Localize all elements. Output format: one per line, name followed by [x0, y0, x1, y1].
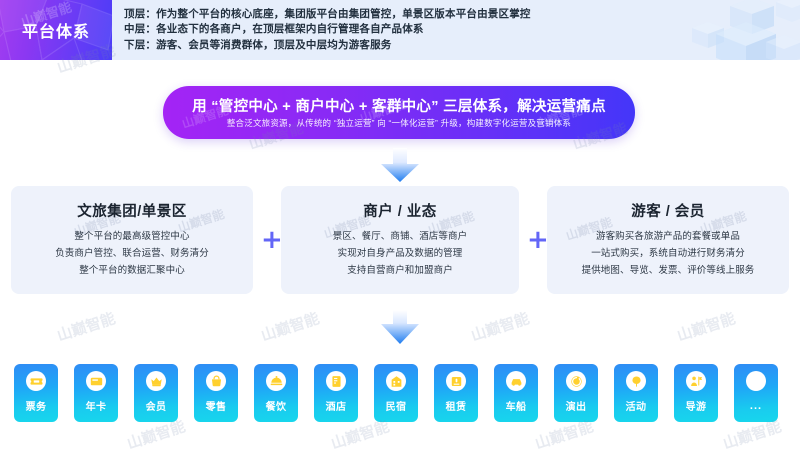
tile-label-more: ... — [734, 400, 778, 412]
card1-line-3: 整个平台的数据汇聚中心 — [11, 262, 253, 279]
header-description-list: 顶层：作为整个平台的核心底座，集团版平台由集团管控，单景区版本平台由景区掌控 中… — [124, 7, 764, 53]
guide-flag-icon — [686, 371, 706, 391]
tile-membership[interactable]: 会员 — [134, 364, 178, 422]
tile-label-ticketing: 票务 — [14, 398, 58, 413]
tile-more[interactable]: ... — [734, 364, 778, 422]
watermark-bg-4: 山巅智能 — [54, 307, 118, 346]
business-tiles-row: 票务 年卡 会员 零售 餐饮 酒店 民宿 — [0, 364, 800, 422]
tile-label-vehicle-boat: 车船 — [494, 398, 538, 413]
card1-line-1: 整个平台的最高级管控中心 — [11, 228, 253, 245]
tile-label-activity: 活动 — [614, 398, 658, 413]
card2-line-3: 支持自营商户和加盟商户 — [281, 262, 519, 279]
tile-catering[interactable]: 餐饮 — [254, 364, 298, 422]
card1-title: 文旅集团/单景区 — [11, 200, 253, 221]
card3-line-1: 游客购买各旅游产品的套餐或单品 — [547, 228, 789, 245]
flow-arrow-down-bottom — [381, 310, 419, 344]
tile-label-homestay: 民宿 — [374, 398, 418, 413]
tile-label-annual-card: 年卡 — [74, 398, 118, 413]
header-line-middle: 中层：各业态下的各商户，在顶层框架内自行管理各自产品体系 — [124, 22, 764, 37]
banner-title: 用 “管控中心 + 商户中心 + 客群中心” 三层体系，解决运营痛点 — [163, 95, 635, 116]
tile-label-performance: 演出 — [554, 398, 598, 413]
tile-label-lease: 租赁 — [434, 398, 478, 413]
header-title-block: 山巅智能 平台体系 — [0, 0, 112, 60]
tile-label-hotel: 酒店 — [314, 398, 358, 413]
tile-activity[interactable]: 活动 — [614, 364, 658, 422]
card-merchant-business[interactable]: 山巅智能 山巅智能 商户 / 业态 景区、餐厅、商铺、酒店等商户 实现对自身产品… — [281, 186, 519, 294]
banner-subtitle: 整合泛文旅资源，从传统的 “独立运营” 向 “一体化运营” 升级，构建数字化运营… — [163, 117, 635, 129]
lease-box-icon — [446, 371, 466, 391]
watermark-bg-7: 山巅智能 — [674, 307, 738, 346]
shopping-bag-icon — [206, 371, 226, 391]
tile-label-retail: 零售 — [194, 398, 238, 413]
tile-annual-card[interactable]: 年卡 — [74, 364, 118, 422]
tile-guide[interactable]: 导游 — [674, 364, 718, 422]
tile-retail[interactable]: 零售 — [194, 364, 238, 422]
tile-ticketing[interactable]: 票务 — [14, 364, 58, 422]
tile-lease[interactable]: 租赁 — [434, 364, 478, 422]
header-line-top: 顶层：作为整个平台的核心底座，集团版平台由集团管控，单景区版本平台由景区掌控 — [124, 7, 764, 22]
card2-line-2: 实现对自身产品及数据的管理 — [281, 245, 519, 262]
more-dots-icon — [746, 371, 766, 391]
homestay-house-icon — [386, 371, 406, 391]
performance-circle-icon — [566, 371, 586, 391]
tile-label-guide: 导游 — [674, 398, 718, 413]
ticket-icon — [26, 371, 46, 391]
page-header: 山巅智能 山巅智能 平台体系 顶层：作为整个平台的核心底座，集团版平台由集团管控… — [0, 0, 800, 60]
header-line-bottom: 下层：游客、会员等消费群体，顶层及中层均为游客服务 — [124, 38, 764, 53]
card3-line-2: 一站式购买，系统自动进行财务清分 — [547, 245, 789, 262]
watermark-bg-5: 山巅智能 — [258, 307, 322, 346]
three-layer-cards: 山巅智能 山巅智能 文旅集团/单景区 整个平台的最高级管控中心 负责商户管控、联… — [0, 186, 800, 294]
tile-label-membership: 会员 — [134, 398, 178, 413]
card3-line-3: 提供地图、导览、发票、评价等线上服务 — [547, 262, 789, 279]
tile-hotel[interactable]: 酒店 — [314, 364, 358, 422]
hotel-building-icon — [326, 371, 346, 391]
tile-performance[interactable]: 演出 — [554, 364, 598, 422]
tile-vehicle-boat[interactable]: 车船 — [494, 364, 538, 422]
card1-line-2: 负责商户管控、联合运营、财务清分 — [11, 245, 253, 262]
card-tourist-member[interactable]: 山巅智能 山巅智能 游客 / 会员 游客购买各旅游产品的套餐或单品 一站式购买，… — [547, 186, 789, 294]
card3-lines: 游客购买各旅游产品的套餐或单品 一站式购买，系统自动进行财务清分 提供地图、导览… — [547, 228, 789, 279]
watermark-bg-6: 山巅智能 — [468, 307, 532, 346]
card2-lines: 景区、餐厅、商铺、酒店等商户 实现对自身产品及数据的管理 支持自营商户和加盟商户 — [281, 228, 519, 279]
card2-title: 商户 / 业态 — [281, 200, 519, 221]
card-cultural-tourism-group[interactable]: 山巅智能 山巅智能 文旅集团/单景区 整个平台的最高级管控中心 负责商户管控、联… — [11, 186, 253, 294]
flow-arrow-down-top — [381, 148, 419, 182]
card-icon — [86, 371, 106, 391]
vehicle-car-icon — [506, 371, 526, 391]
balloon-icon — [626, 371, 646, 391]
page-title: 平台体系 — [0, 0, 112, 60]
card-separator-plus-2: + — [527, 230, 549, 250]
highlight-banner: 山巅智能 山巅智能 山巅智能 用 “管控中心 + 商户中心 + 客群中心” 三层… — [163, 86, 635, 139]
food-cloche-icon — [266, 371, 286, 391]
tile-label-catering: 餐饮 — [254, 398, 298, 413]
card3-title: 游客 / 会员 — [547, 200, 789, 221]
crown-icon — [146, 371, 166, 391]
tile-homestay[interactable]: 民宿 — [374, 364, 418, 422]
card1-lines: 整个平台的最高级管控中心 负责商户管控、联合运营、财务清分 整个平台的数据汇聚中… — [11, 228, 253, 279]
card-separator-plus-1: + — [261, 230, 283, 250]
card2-line-1: 景区、餐厅、商铺、酒店等商户 — [281, 228, 519, 245]
